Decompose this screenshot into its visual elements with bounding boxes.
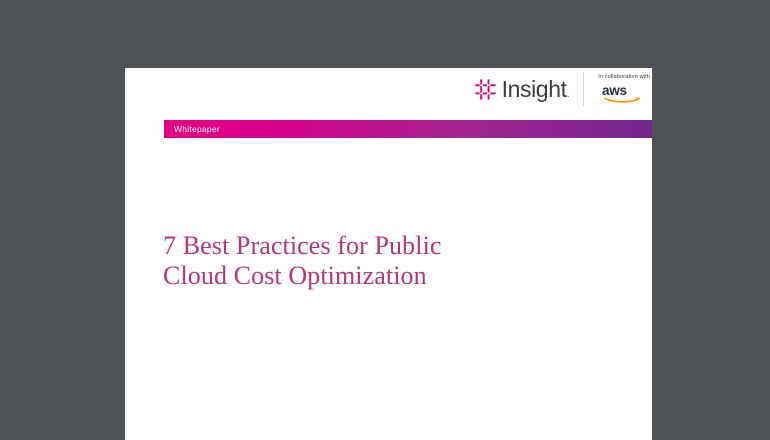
header-logo-lockup: Insight. In collaboration with aws <box>475 72 652 106</box>
whitepaper-banner: Whitepaper <box>164 120 652 138</box>
screenshot-viewport: Insight. In collaboration with aws <box>0 0 770 440</box>
document-title: 7 Best Practices for Public Cloud Cost O… <box>163 231 583 290</box>
whitepaper-banner-label: Whitepaper <box>164 125 220 134</box>
document-title-line-2: Cloud Cost Optimization <box>163 261 583 290</box>
svg-text:aws: aws <box>602 83 627 98</box>
document-header: Insight. In collaboration with aws <box>125 68 652 120</box>
document-page: Insight. In collaboration with aws <box>125 68 652 440</box>
aws-collaboration-text: In collaboration with <box>598 75 650 81</box>
document-title-line-1: 7 Best Practices for Public <box>163 231 583 260</box>
aws-logo-icon: aws <box>601 82 647 103</box>
insight-logo: Insight. <box>475 78 570 101</box>
aws-collaboration-badge: In collaboration with aws <box>598 75 652 104</box>
insight-wordmark-text: Insight <box>502 76 567 102</box>
insight-trademark-dot: . <box>567 88 570 100</box>
insight-hash-mark-icon <box>475 79 496 100</box>
logo-divider <box>583 72 584 106</box>
insight-wordmark: Insight. <box>502 78 570 101</box>
